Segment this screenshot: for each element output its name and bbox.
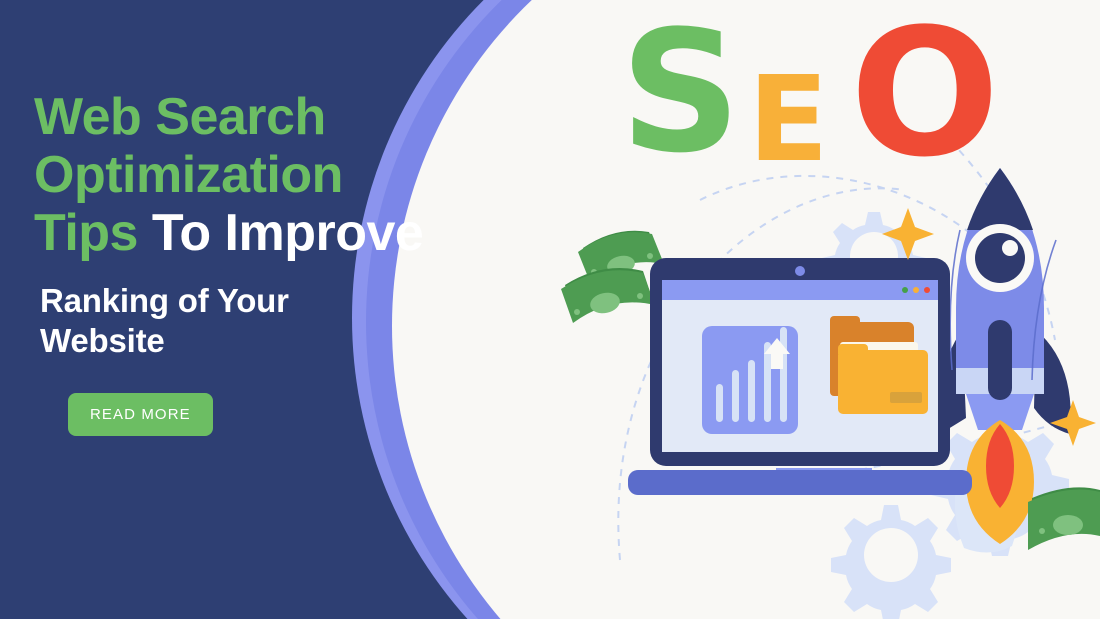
headline-line-1: Web Search: [34, 88, 326, 146]
window-dot-red-icon: [924, 287, 930, 293]
laptop-illustration: [650, 258, 950, 466]
laptop-lid: [650, 258, 950, 466]
folder-label-strip: [890, 392, 922, 403]
laptop-base: [628, 470, 972, 495]
seo-letter-o: O: [850, 6, 1000, 182]
read-more-button[interactable]: READ MORE: [68, 393, 213, 436]
chart-bar: [716, 384, 723, 422]
subheading-line-1: Ranking of Your: [40, 282, 289, 319]
growth-chart-card: [702, 326, 798, 434]
seo-marketing-banner: S E O Web Search Optimization Tips To Im…: [0, 0, 1100, 619]
headline-line-3-green: Tips: [34, 204, 138, 262]
laptop-camera-icon: [795, 266, 805, 276]
headline-line-3-white: To Improve: [152, 204, 423, 262]
window-dot-amber-icon: [913, 287, 919, 293]
copy-block: Web Search Optimization Tips To Improve …: [34, 88, 434, 436]
seo-letter-s: S: [620, 8, 741, 176]
chart-bar: [732, 370, 739, 422]
chart-bar: [748, 360, 755, 422]
laptop-screen: [662, 280, 938, 452]
subheading: Ranking of Your Website: [40, 281, 434, 362]
headline-line-2: Optimization: [34, 146, 343, 204]
chart-bar: [764, 342, 771, 422]
page-title: Web Search Optimization Tips To Improve: [34, 88, 434, 263]
subheading-line-2: Website: [40, 322, 165, 359]
browser-titlebar: [662, 280, 938, 300]
window-dot-green-icon: [902, 287, 908, 293]
folder-front-icon: [838, 350, 928, 414]
seo-letter-e: E: [748, 60, 829, 178]
